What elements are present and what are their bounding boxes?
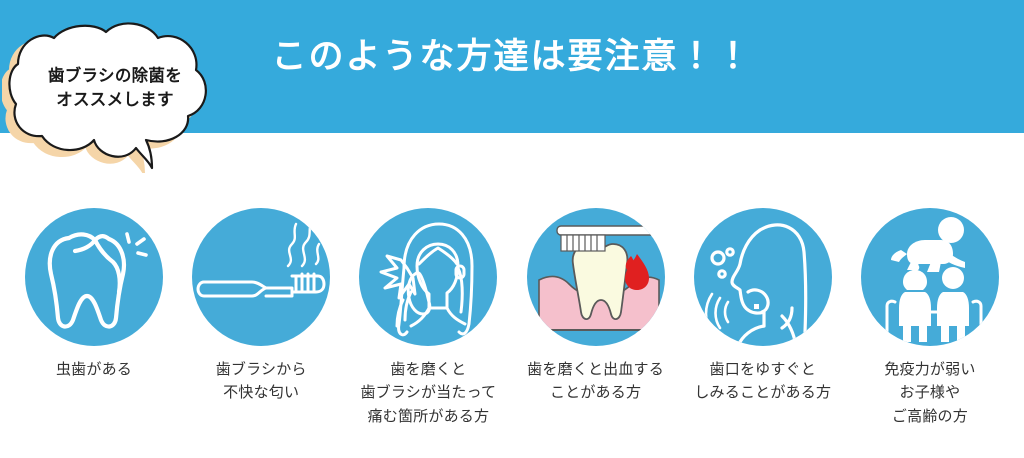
baby-elderly-icon <box>861 208 999 346</box>
toothbrush-odor-icon <box>192 208 330 346</box>
speech-bubble-text: 歯ブラシの除菌を オススメします <box>20 65 210 113</box>
list-item: 歯ブラシから 不快な匂い <box>181 208 341 448</box>
caption-line: 虫歯がある <box>8 358 180 381</box>
caption-line: ことがある方 <box>510 381 682 404</box>
bubble-line-1: 歯ブラシの除菌を <box>20 65 210 89</box>
list-item-caption: 虫歯がある <box>8 358 180 381</box>
caption-line: 歯ブラシから <box>175 358 347 381</box>
list-item-caption: 歯を磨くと 歯ブラシが当たって 痛む箇所がある方 <box>342 358 514 428</box>
cracked-tooth-icon <box>25 208 163 346</box>
caption-line: 不快な匂い <box>175 381 347 404</box>
caption-line: 免疫力が弱い <box>844 358 1016 381</box>
list-item-caption: 歯を磨くと出血する ことがある方 <box>510 358 682 405</box>
caption-line: 歯を磨くと出血する <box>510 358 682 381</box>
gargling-face-icon <box>694 208 832 346</box>
list-item: 歯を磨くと出血する ことがある方 <box>516 208 676 448</box>
caption-line: 歯を磨くと <box>342 358 514 381</box>
woman-toothache-icon <box>359 208 497 346</box>
list-item-caption: 免疫力が弱い お子様や ご高齢の方 <box>844 358 1016 428</box>
bubble-line-2: オススメします <box>20 89 210 113</box>
caption-line: しみることがある方 <box>677 381 849 404</box>
list-item: 歯を磨くと 歯ブラシが当たって 痛む箇所がある方 <box>348 208 508 448</box>
warning-signs-list: 虫歯がある <box>0 208 1024 448</box>
list-item-caption: 歯ブラシから 不快な匂い <box>175 358 347 405</box>
bleeding-gums-icon <box>527 208 665 346</box>
speech-bubble: 歯ブラシの除菌を オススメします <box>2 8 232 173</box>
list-item: 虫歯がある <box>14 208 174 448</box>
caption-line: 痛む箇所がある方 <box>342 405 514 428</box>
caption-line: ご高齢の方 <box>844 405 1016 428</box>
list-item: 免疫力が弱い お子様や ご高齢の方 <box>850 208 1010 448</box>
caption-line: 歯ブラシが当たって <box>342 381 514 404</box>
list-item: 歯口をゆすぐと しみることがある方 <box>683 208 843 448</box>
list-item-caption: 歯口をゆすぐと しみることがある方 <box>677 358 849 405</box>
caption-line: お子様や <box>844 381 1016 404</box>
caption-line: 歯口をゆすぐと <box>677 358 849 381</box>
